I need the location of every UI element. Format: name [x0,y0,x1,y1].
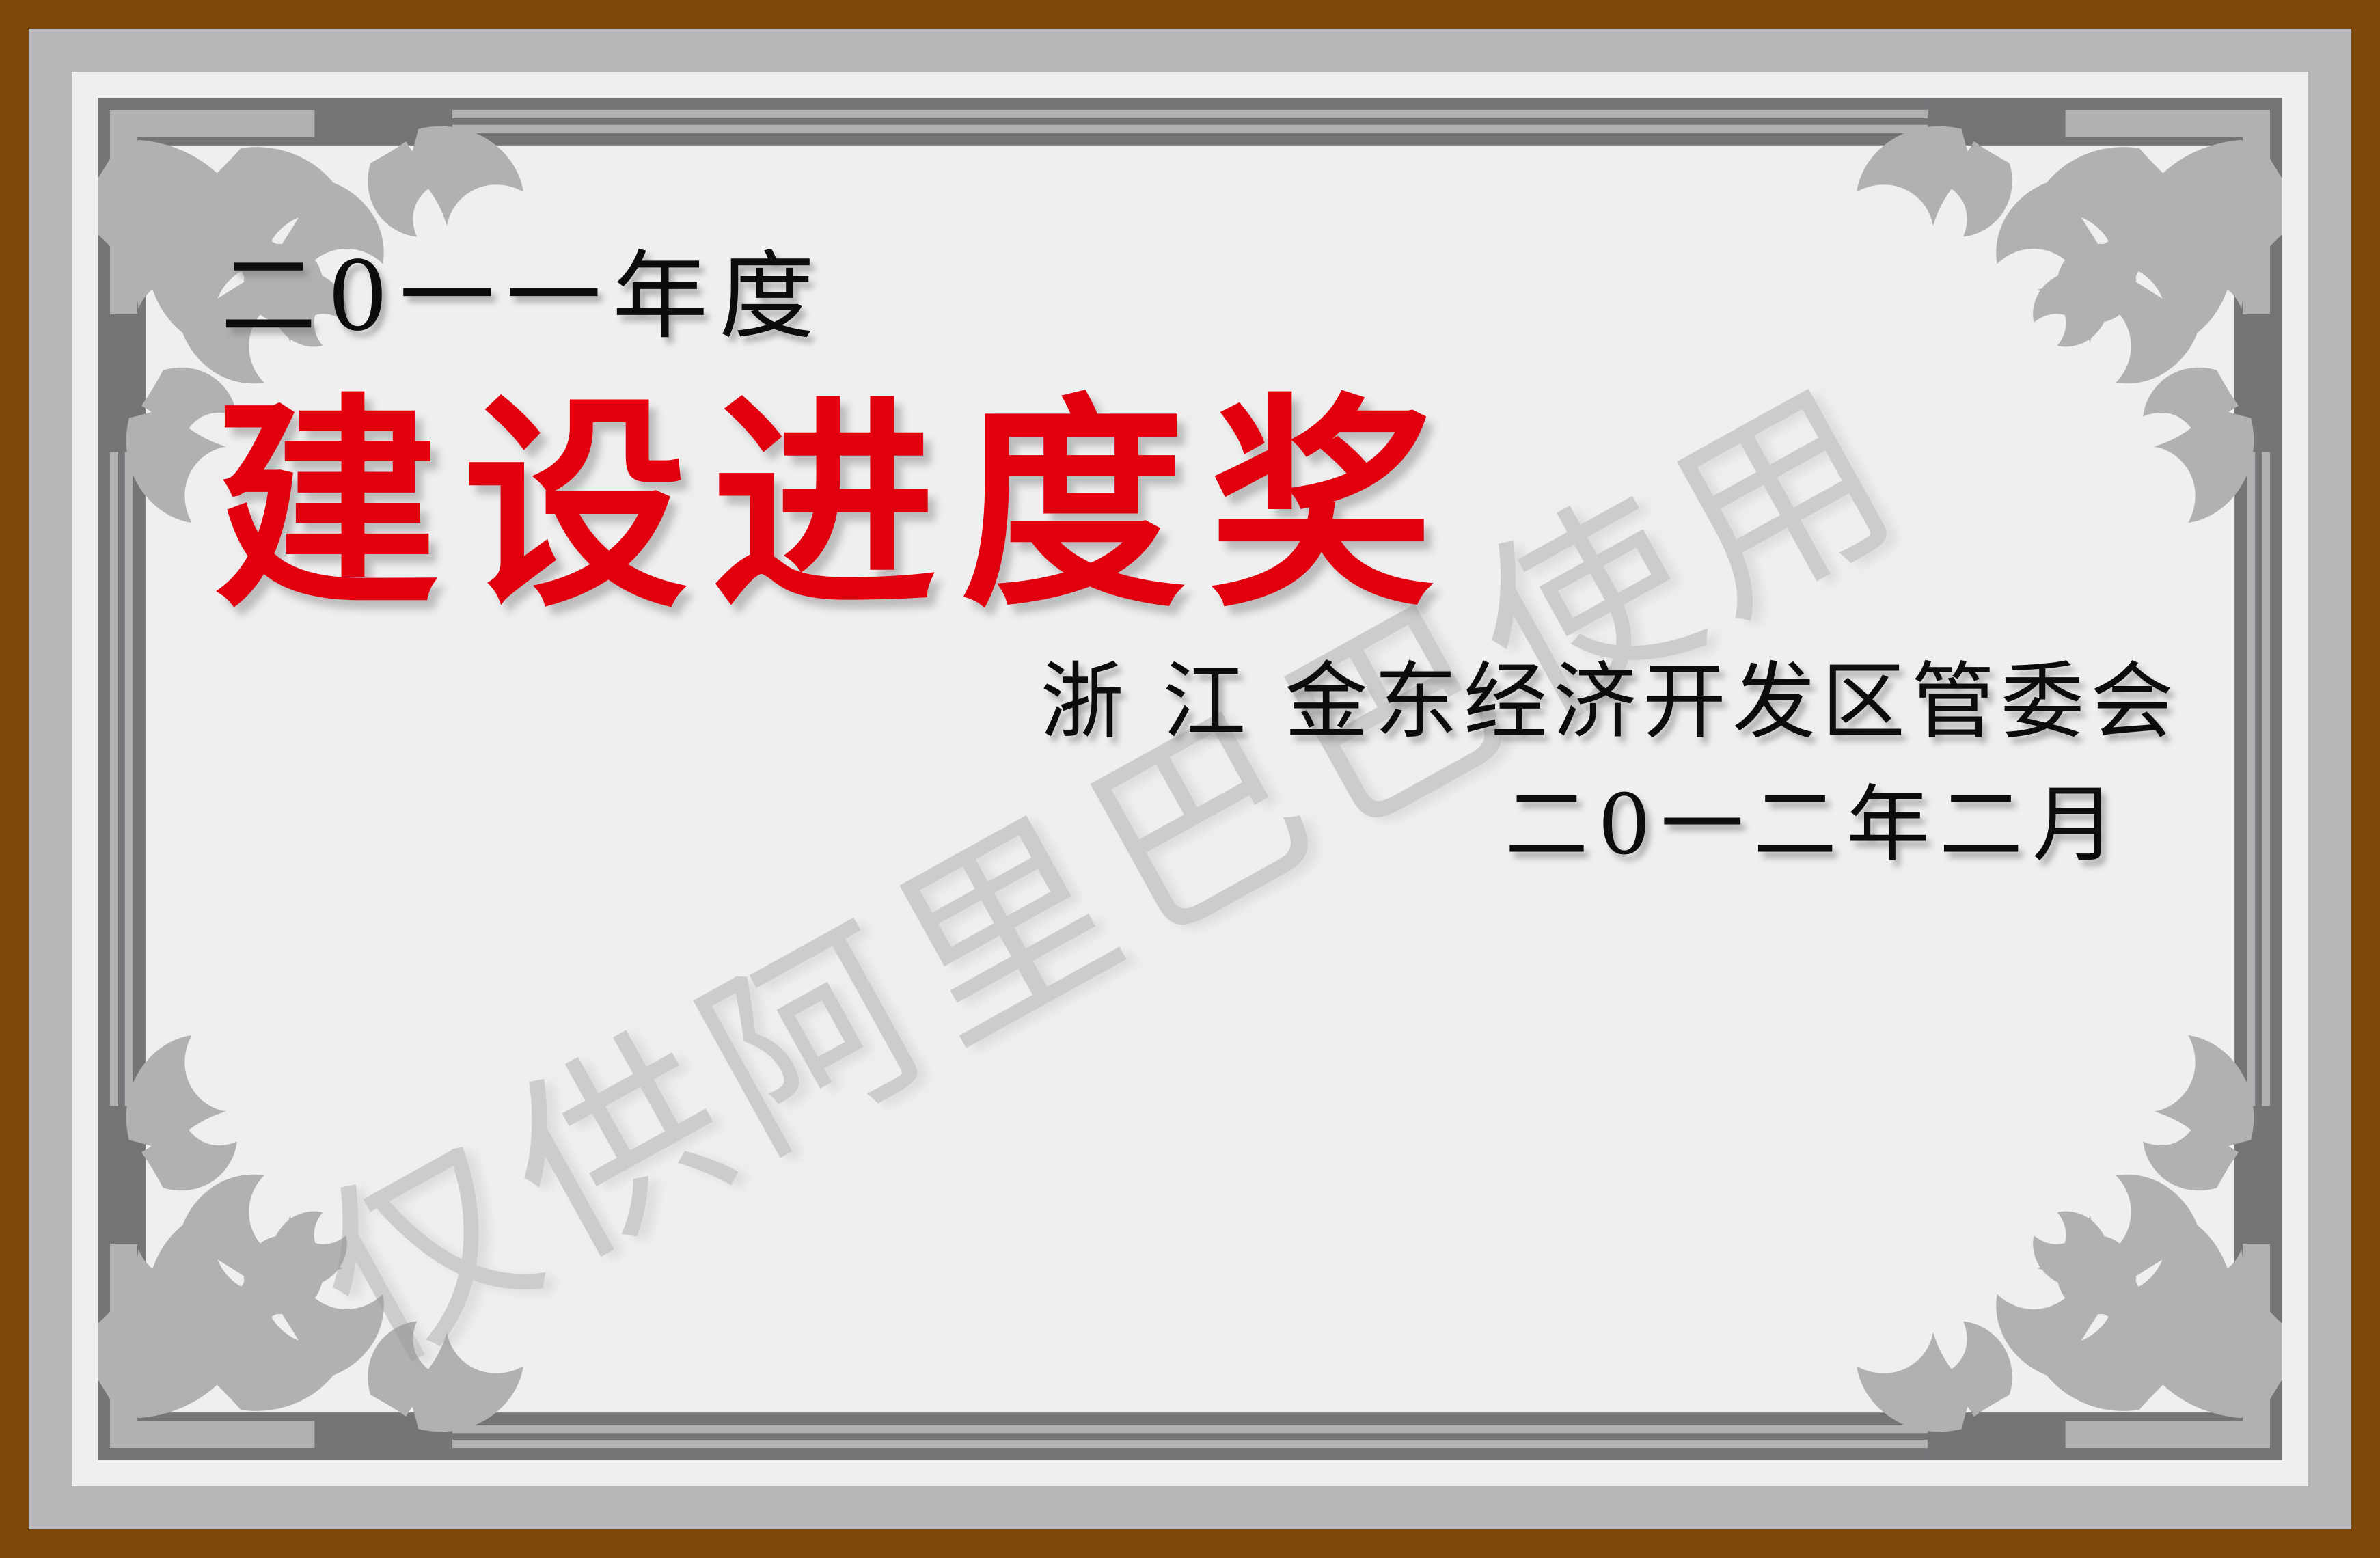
plaque-paper: 仅供阿里巴巴使用 二0一一年度 建设进度奖 浙 江 金东经济开发区管委会 二0一… [72,72,2308,1486]
plaque-mat: 仅供阿里巴巴使用 二0一一年度 建设进度奖 浙 江 金东经济开发区管委会 二0一… [29,29,2351,1529]
issuing-authority: 浙 江 金东经济开发区管委会 [1040,634,2180,755]
award-plaque: 仅供阿里巴巴使用 二0一一年度 建设进度奖 浙 江 金东经济开发区管委会 二0一… [0,0,2380,1558]
certificate-content: 二0一一年度 建设进度奖 浙 江 金东经济开发区管委会 二0一二年二月 [98,98,2282,1460]
ornamental-border: 仅供阿里巴巴使用 二0一一年度 建设进度奖 浙 江 金东经济开发区管委会 二0一… [98,98,2282,1460]
award-title: 建设进度奖 [214,323,1458,650]
issue-date: 二0一二年二月 [1505,757,2125,878]
certificate-field: 仅供阿里巴巴使用 二0一一年度 建设进度奖 浙 江 金东经济开发区管委会 二0一… [98,98,2282,1460]
